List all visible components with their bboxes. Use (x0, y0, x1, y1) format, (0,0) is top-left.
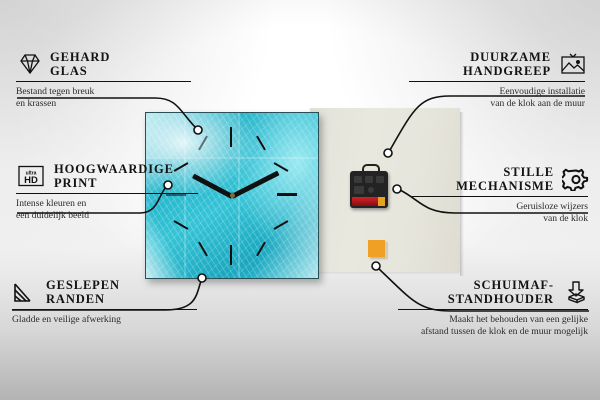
down-arrow-pad-icon (562, 280, 588, 304)
bevelled-edge-icon (12, 280, 38, 304)
movement-battery (352, 197, 385, 206)
feature-description: Eenvoudige installatie van de klok aan d… (409, 86, 585, 109)
ultra-hd-icon: ultra HD (16, 164, 46, 188)
feature-schuimafstandhouder: SCHUIMAF- STANDHOUDER Maakt het behouden… (398, 278, 588, 337)
gear-icon (562, 167, 588, 191)
feature-title: HOOGWAARDIGE PRINT (54, 162, 174, 190)
diamond-icon (16, 52, 42, 76)
feature-description: Bestand tegen breuk en krassen (16, 86, 191, 109)
clock-tick (198, 242, 208, 257)
svg-text:HD: HD (24, 175, 38, 186)
feature-description: Geruisloze wijzers van de klok (412, 201, 588, 224)
divider (16, 193, 198, 194)
movement-detail (354, 186, 364, 194)
feature-title: GESLEPEN RANDEN (46, 278, 120, 306)
feature-title: GEHARD GLAS (50, 50, 110, 78)
battery-terminal (378, 197, 385, 206)
clock-tick (274, 220, 289, 230)
feature-hoogwaardige-print: ultra HD HOOGWAARDIGE PRINT Intense kleu… (16, 162, 198, 221)
feature-title: SCHUIMAF- STANDHOUDER (448, 278, 554, 306)
feature-stille-mechanisme: STILLE MECHANISME Geruisloze wijzers van… (412, 165, 588, 224)
clock-tick (174, 220, 189, 230)
movement-detail (354, 176, 362, 183)
movement-detail (368, 187, 374, 193)
movement-detail (365, 176, 373, 183)
clock-hour-hand (192, 174, 233, 199)
picture-frame-icon (559, 52, 585, 76)
divider (409, 81, 585, 82)
feature-description: Maakt het behouden van een gelijke afsta… (398, 314, 588, 337)
divider (16, 81, 191, 82)
clock-tick (277, 193, 297, 196)
feature-title: DUURZAME HANDGREEP (463, 50, 551, 78)
feature-description: Intense kleuren en een duidelijk beeld (16, 198, 198, 221)
clock-movement (350, 171, 388, 208)
movement-detail (376, 176, 384, 183)
clock-tick (230, 245, 232, 265)
glass-reflection-block (146, 113, 184, 157)
feature-geslepen-randen: GESLEPEN RANDEN Gladde en veilige afwerk… (12, 278, 197, 326)
foam-spacer (368, 240, 385, 257)
clock-tick (230, 127, 232, 147)
movement-shaft (362, 164, 380, 174)
feature-duurzame-handgreep: DUURZAME HANDGREEP Eenvoudige installati… (409, 50, 585, 109)
divider (12, 309, 197, 310)
clock-tick (256, 242, 266, 257)
feature-description: Gladde en veilige afwerking (12, 314, 197, 326)
divider (412, 196, 588, 197)
feature-gehard-glas: GEHARD GLAS Bestand tegen breuk en krass… (16, 50, 191, 109)
glass-reflection-line (146, 157, 318, 159)
clock-tick (256, 136, 266, 151)
clock-center-pin (230, 193, 235, 198)
product-infographic: GEHARD GLAS Bestand tegen breuk en krass… (0, 0, 600, 400)
feature-title: STILLE MECHANISME (456, 165, 554, 193)
divider (398, 309, 588, 310)
